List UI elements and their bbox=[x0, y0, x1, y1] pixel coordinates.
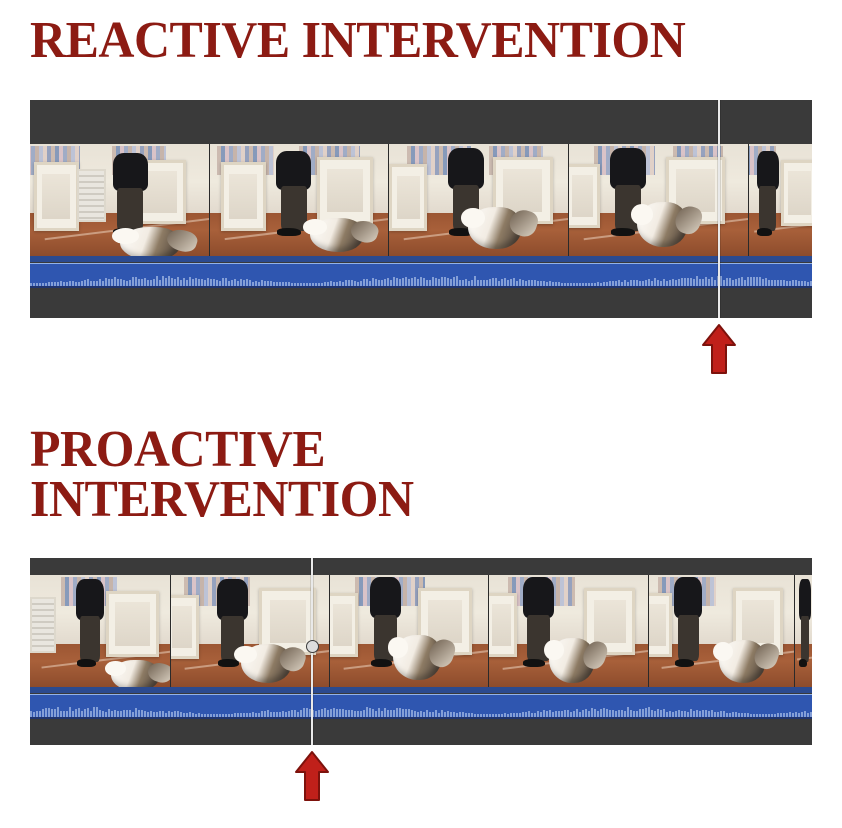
playhead-handle[interactable] bbox=[306, 640, 319, 653]
video-frame-scene bbox=[795, 575, 812, 687]
video-frame[interactable] bbox=[489, 575, 649, 687]
audio-track-reactive[interactable] bbox=[30, 256, 812, 288]
video-frame-scene bbox=[171, 575, 329, 687]
video-frame-scene bbox=[210, 144, 388, 256]
video-frame[interactable] bbox=[749, 144, 812, 256]
filmstrip-reactive[interactable] bbox=[30, 144, 812, 256]
filmstrip-proactive[interactable] bbox=[30, 575, 812, 687]
video-frame[interactable] bbox=[210, 144, 389, 256]
video-frame[interactable] bbox=[171, 575, 330, 687]
video-frame-scene bbox=[569, 144, 748, 256]
playhead-proactive[interactable] bbox=[311, 558, 313, 745]
audio-clip-body[interactable] bbox=[30, 263, 812, 288]
video-frame[interactable] bbox=[30, 575, 171, 687]
video-frame[interactable] bbox=[569, 144, 749, 256]
audio-track-proactive[interactable] bbox=[30, 687, 812, 719]
video-frame-scene bbox=[389, 144, 568, 256]
video-frame[interactable] bbox=[795, 575, 812, 687]
video-frame-scene bbox=[30, 144, 209, 256]
video-frame[interactable] bbox=[30, 144, 210, 256]
video-frame[interactable] bbox=[330, 575, 489, 687]
video-frame[interactable] bbox=[649, 575, 795, 687]
playhead-reactive[interactable] bbox=[718, 100, 720, 318]
audio-clip-header bbox=[30, 687, 812, 693]
audio-waveform bbox=[30, 275, 812, 286]
audio-clip-body[interactable] bbox=[30, 694, 812, 719]
video-timeline-proactive[interactable] bbox=[30, 558, 812, 745]
pointer-arrow-proactive bbox=[292, 750, 332, 802]
video-frame-scene bbox=[30, 575, 170, 687]
video-timeline-reactive[interactable] bbox=[30, 100, 812, 318]
audio-clip-header bbox=[30, 256, 812, 262]
audio-waveform bbox=[30, 706, 812, 717]
pointer-arrow-reactive bbox=[699, 323, 739, 375]
heading-proactive-intervention: PROACTIVE INTERVENTION bbox=[30, 425, 414, 525]
video-frame-scene bbox=[749, 144, 812, 256]
video-frame-scene bbox=[330, 575, 488, 687]
video-frame[interactable] bbox=[389, 144, 569, 256]
video-frame-scene bbox=[649, 575, 794, 687]
video-frame-scene bbox=[489, 575, 648, 687]
heading-reactive-intervention: REACTIVE INTERVENTION bbox=[30, 16, 685, 66]
